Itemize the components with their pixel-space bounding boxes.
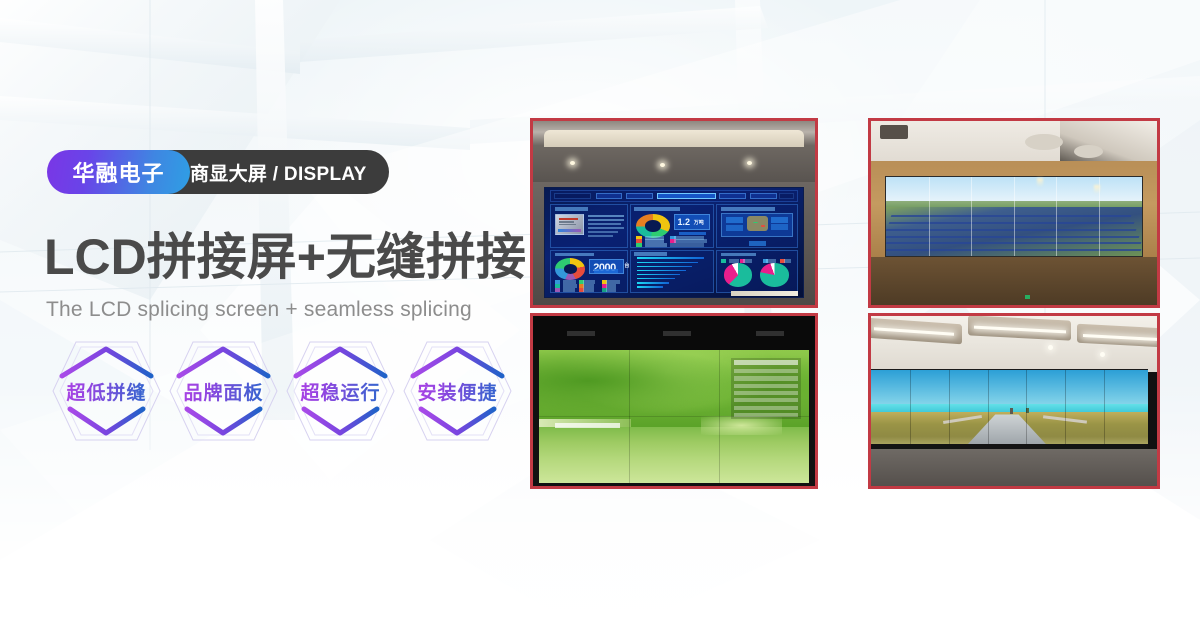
screen-lake-water — [539, 427, 810, 483]
bar-chart — [634, 257, 709, 291]
nav-item-title[interactable] — [657, 193, 716, 199]
pie-chart-right — [760, 263, 788, 286]
dashboard-navbar — [550, 190, 797, 202]
screen-shrub — [701, 416, 782, 435]
brand-pill: 华融电子 — [47, 150, 190, 194]
donut-chart-main — [636, 214, 670, 238]
screen-ticker — [731, 291, 798, 295]
dashboard-card-pie-charts — [716, 250, 797, 293]
wall-light — [1094, 185, 1100, 194]
dashboard-screen: 1.2 万吨 — [544, 187, 803, 297]
video-wall-screen — [539, 350, 810, 483]
nav-item-3[interactable] — [719, 193, 746, 199]
exit-sign — [1025, 295, 1030, 299]
screen-calendar-overlay — [731, 358, 801, 419]
floor — [871, 449, 1157, 486]
ceiling-fixture — [1074, 145, 1103, 158]
photo-beach-boardwalk-video-wall — [868, 313, 1160, 489]
video-wall-screen — [871, 369, 1148, 447]
wall-light — [1037, 178, 1043, 187]
nav-item-4[interactable] — [750, 193, 777, 199]
screen-sky — [871, 370, 1148, 406]
nav-item-0[interactable] — [596, 193, 623, 199]
wood-wall-lower — [871, 257, 1157, 305]
brand-pill-label: 华融电子 — [72, 156, 164, 188]
photo-willow-lake-video-wall — [530, 313, 818, 489]
ceiling-fixture — [1025, 134, 1062, 151]
photo-gallery: 1.2 万吨 — [0, 0, 1200, 640]
photo-solar-farm-video-wall — [868, 118, 1160, 308]
ceiling-vent — [880, 125, 909, 140]
dashboard-card-capability — [550, 204, 627, 247]
dashboard-card-flow-diagram — [716, 204, 797, 247]
dashboard-card-energy-donut: 1.2 万吨 — [630, 204, 714, 247]
donut-chart-region — [555, 258, 585, 279]
nav-user[interactable] — [779, 193, 794, 199]
pie-chart-left — [724, 263, 752, 286]
ceiling-downlight — [1100, 352, 1105, 357]
video-wall-screen — [885, 176, 1142, 257]
dashboard-card-bar-chart — [630, 250, 714, 293]
photo-control-room-dashboard: 1.2 万吨 — [530, 118, 818, 308]
dashboard-card-region-donut: 2000 台 — [550, 250, 627, 293]
nav-item-1[interactable] — [626, 193, 653, 199]
kpi-panel: 1.2 万吨 — [674, 214, 711, 231]
screen-bezel-top — [533, 316, 815, 350]
nav-timestamp — [554, 193, 591, 199]
ceiling-cove — [544, 130, 803, 147]
screen-railing — [555, 423, 620, 428]
screen-post — [1010, 408, 1013, 413]
category-pill-label: 商显大屏 / DISPLAY — [190, 159, 367, 186]
